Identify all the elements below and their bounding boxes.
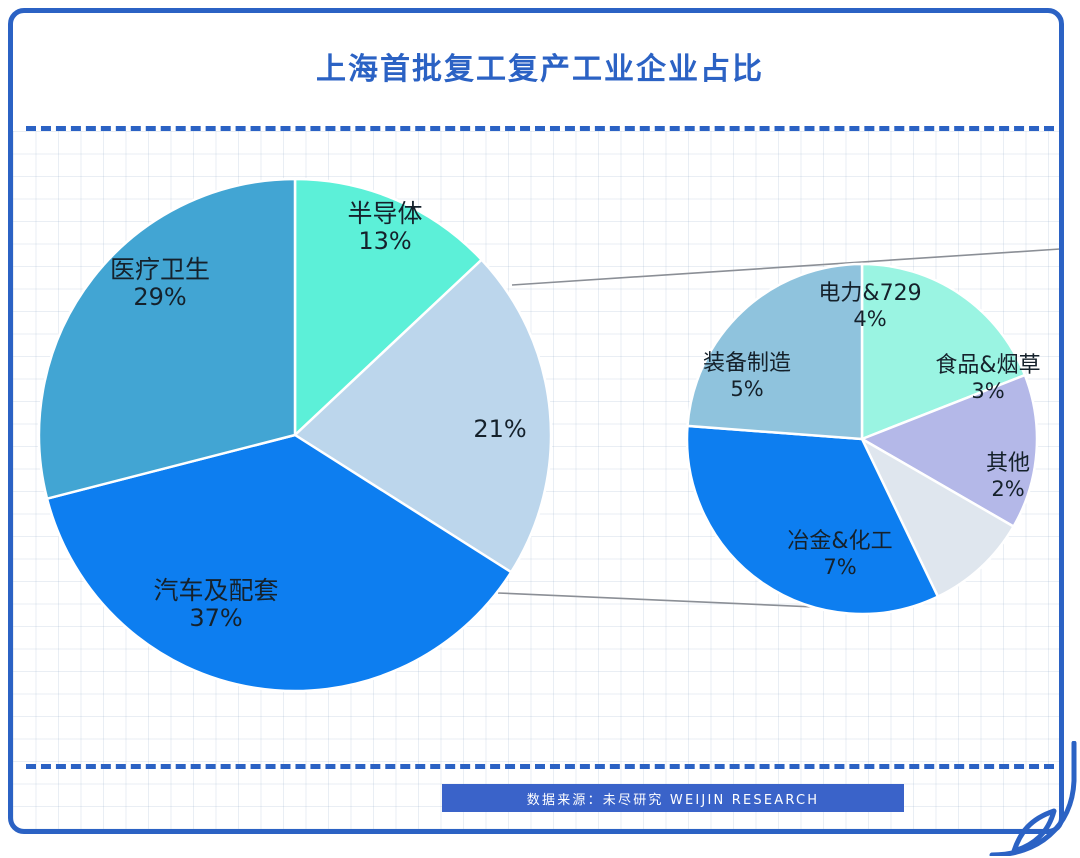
slice-equipment[interactable]: [687, 264, 862, 439]
source-bar: 数据来源：未尽研究 WEIJIN RESEARCH: [442, 784, 904, 812]
source-text: 数据来源：未尽研究 WEIJIN RESEARCH: [527, 789, 819, 808]
dashed-divider-bottom: [26, 764, 1054, 769]
page-title: 上海首批复工复产工业企业占比: [316, 44, 764, 88]
main-pie-slices: [39, 179, 551, 691]
chart-page: 上海首批复工复产工业企业占比 医疗卫生 29% 半导体 13% 21%: [0, 0, 1080, 858]
chart-canvas: [0, 131, 1080, 761]
dashed-divider-top: [26, 126, 1054, 131]
speech-bubble-tail-icon: [968, 741, 1078, 856]
page-title-container: 上海首批复工复产工业企业占比: [0, 44, 1080, 88]
pie-of-pie-chart: 医疗卫生 29% 半导体 13% 21% 汽车及配套 37% 电力&729 4%…: [0, 131, 1080, 761]
secondary-pie-slices: [687, 264, 1037, 614]
